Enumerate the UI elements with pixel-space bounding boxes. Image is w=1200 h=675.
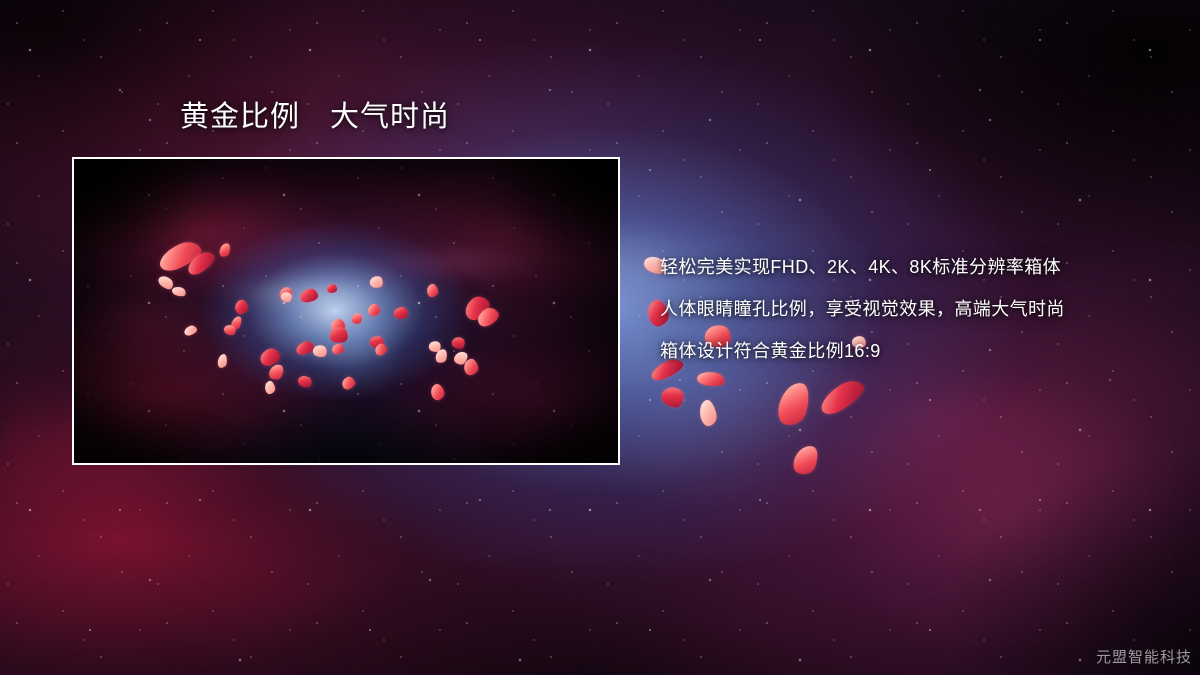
presentation-slide: 黄金比例 大气时尚 [0, 0, 1200, 675]
rose-petal-icon [327, 284, 337, 293]
body-line-3: 箱体设计符合黄金比例16:9 [660, 342, 1180, 360]
body-line-1: 轻松完美实现FHD、2K、4K、8K标准分辨率箱体 [660, 258, 1180, 276]
photo-frame [72, 157, 620, 465]
page-title: 黄金比例 大气时尚 [180, 100, 450, 135]
body-line-2: 人体眼睛瞳孔比例，享受视觉效果，高端大气时尚 [660, 300, 1180, 318]
photo-vignette [74, 159, 618, 463]
body-copy: 轻松完美实现FHD、2K、4K、8K标准分辨率箱体 人体眼睛瞳孔比例，享受视觉效… [660, 258, 1180, 360]
watermark: 元盟智能科技 [1096, 646, 1192, 667]
